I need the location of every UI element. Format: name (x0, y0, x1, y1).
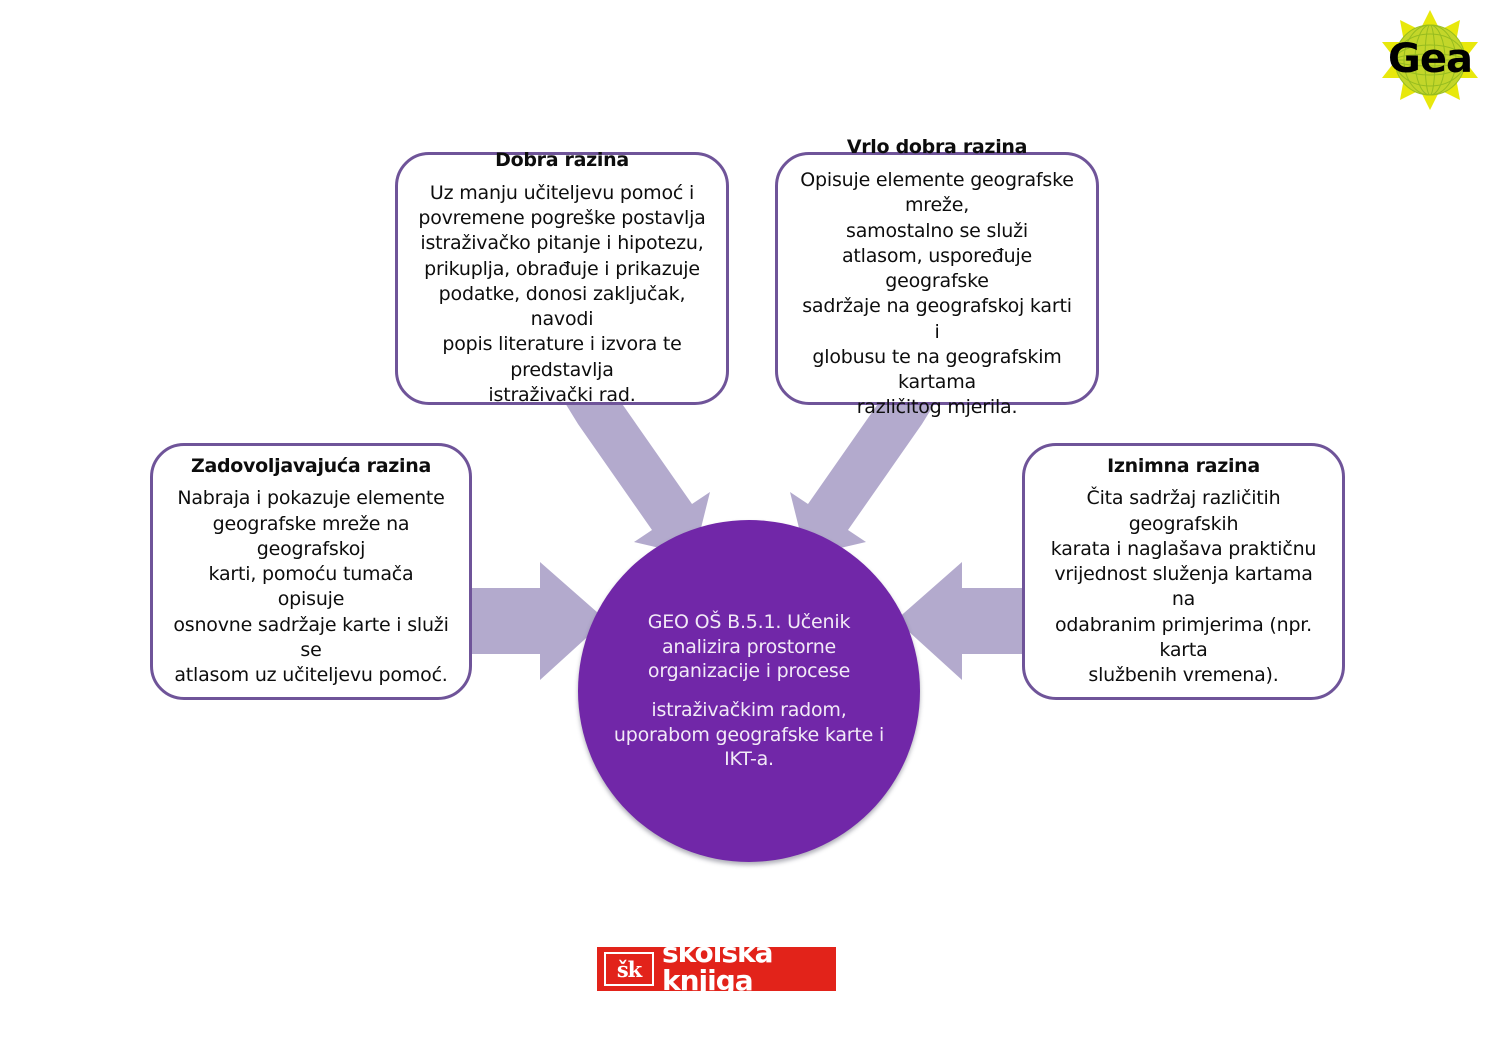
diagram-canvas: Dobra razina Uz manju učiteljevu pomoć i… (0, 0, 1497, 1058)
level-card-iznimna-body: Čita sadržaj različitih geografskih kara… (1045, 486, 1322, 688)
skolska-knjiga-monogram: šk (604, 952, 654, 986)
central-outcome-circle[interactable]: GEO OŠ B.5.1. Učenik analizira prostorne… (578, 520, 920, 862)
level-card-dobra[interactable]: Dobra razina Uz manju učiteljevu pomoć i… (395, 152, 729, 405)
central-outcome-line-2: istraživačkim radom, uporabom geografske… (614, 698, 884, 772)
level-card-zadovoljavajuca-title: Zadovoljavajuća razina (191, 455, 431, 478)
gea-logo: Gea (1376, 8, 1484, 112)
level-card-vrlo-dobra-body: Opisuje elemente geografske mreže, samos… (798, 168, 1076, 421)
level-card-zadovoljavajuca-body: Nabraja i pokazuje elemente geografske m… (173, 486, 449, 688)
level-card-dobra-title: Dobra razina (495, 149, 629, 172)
level-card-dobra-body: Uz manju učiteljevu pomoć i povremene po… (418, 181, 706, 408)
level-card-iznimna-title: Iznimna razina (1107, 455, 1260, 478)
level-card-zadovoljavajuca[interactable]: Zadovoljavajuća razina Nabraja i pokazuj… (150, 443, 472, 700)
central-outcome-line-1: GEO OŠ B.5.1. Učenik analizira prostorne… (648, 610, 851, 684)
level-card-vrlo-dobra-title: Vrlo dobra razina (847, 136, 1027, 159)
level-card-iznimna[interactable]: Iznimna razina Čita sadržaj različitih g… (1022, 443, 1345, 700)
skolska-knjiga-logo: šk školska knjiga (597, 947, 836, 991)
gea-logo-text: Gea (1376, 8, 1484, 112)
level-card-vrlo-dobra[interactable]: Vrlo dobra razina Opisuje elemente geogr… (775, 152, 1099, 405)
skolska-knjiga-wordmark: školska knjiga (662, 939, 829, 999)
